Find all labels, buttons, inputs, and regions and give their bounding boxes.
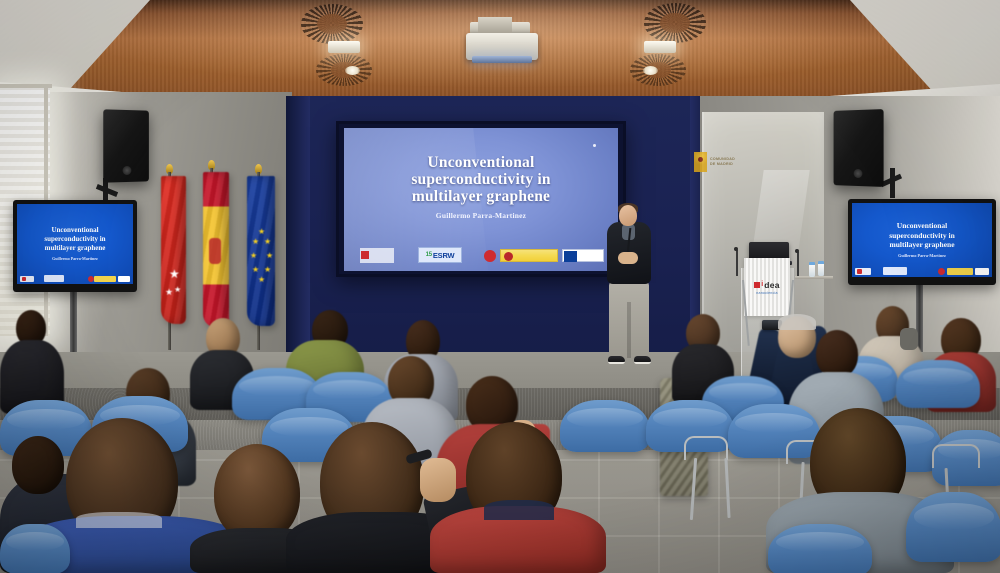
- sponsor-logo-left: [360, 248, 394, 263]
- microphone-stand: [797, 252, 799, 276]
- presenter-head: [619, 205, 637, 226]
- spain-government-logo: [947, 268, 973, 275]
- water-bottle: [818, 261, 824, 276]
- monitor-right[interactable]: Unconventional superconductivity in mult…: [848, 199, 996, 285]
- microphone-icon: [734, 247, 738, 251]
- conference-hall-photo: COMUNIDAD DE MADRID Unconventional super…: [0, 0, 1000, 573]
- monitor-left-logo-row: [20, 275, 130, 282]
- projector-lens-icon: [472, 56, 532, 63]
- monitor-left-title-line3: multilayer graphene: [17, 244, 133, 253]
- spain-government-logo: [500, 249, 558, 262]
- lectern-banner: i dea nanociencia: [744, 258, 790, 316]
- imdea-subtitle: nanociencia: [756, 291, 777, 295]
- star-icon: ★: [258, 228, 265, 236]
- wall-sign-comunidad-de-madrid: COMUNIDAD DE MADRID: [694, 148, 760, 176]
- imdea-brand-dea: dea: [764, 280, 780, 290]
- ceiling-vent-icon: [644, 3, 706, 43]
- flag-madrid: ★ ★ ★: [161, 176, 186, 324]
- ceiling-downlight-icon: [328, 41, 360, 53]
- chair[interactable]: [768, 524, 872, 573]
- european-union-logo: [118, 276, 130, 282]
- flag-european-union: ★ ★ ★ ★ ★ ★ ★ ★: [247, 176, 275, 326]
- chair[interactable]: [906, 492, 1000, 562]
- monitor-right-title-line2: superconductivity in: [852, 231, 992, 241]
- slide-logo-row: 15ESRW: [354, 246, 608, 264]
- monitor-left[interactable]: Unconventional superconductivity in mult…: [13, 200, 137, 292]
- water-bottle: [809, 262, 815, 277]
- star-icon: ★: [266, 252, 273, 260]
- monitor-right-screen: Unconventional superconductivity in mult…: [852, 203, 992, 277]
- red-emblem-logo: [938, 268, 945, 275]
- european-union-logo: [975, 268, 989, 275]
- ceiling-downlight-icon: [644, 41, 676, 53]
- microphone-stand: [736, 250, 738, 276]
- ceiling-vent-icon: [301, 4, 363, 44]
- esrw-logo-year: 15: [426, 252, 432, 258]
- ceiling-spot-icon: [643, 66, 658, 75]
- loudspeaker-left: [103, 109, 149, 182]
- european-union-logo: [562, 249, 604, 262]
- red-emblem-logo: [484, 250, 496, 262]
- imdea-red-square-icon: [754, 282, 760, 288]
- chair[interactable]: [560, 400, 650, 452]
- esrw-logo-label: ESRW: [433, 251, 455, 260]
- imdea-logo: i dea: [754, 280, 780, 290]
- esrw-logo: [883, 267, 907, 275]
- star-icon: ★: [174, 286, 181, 294]
- window-mullion: [0, 84, 52, 88]
- wall-sign-line2: DE MADRID: [710, 162, 735, 167]
- photographer-hair: [778, 314, 816, 330]
- ceiling-vent-icon: [316, 54, 372, 86]
- slide-title: Unconventional superconductivity in mult…: [344, 154, 618, 205]
- ceiling-vent-icon: [630, 54, 686, 86]
- madrid-coat-of-arms-icon: [694, 152, 707, 172]
- chair-armrest: [684, 436, 728, 460]
- audience-lanyard: [484, 500, 554, 520]
- monitor-stand-left: [70, 290, 77, 360]
- presenter-legs: [609, 280, 649, 358]
- audience-hand: [420, 458, 456, 502]
- audience-head: [12, 436, 64, 494]
- star-icon: ★: [169, 270, 180, 278]
- monitor-left-author: Guillermo Parra-Martinez: [17, 256, 133, 261]
- presenter-hands: [618, 252, 638, 264]
- chair-armrest: [932, 444, 980, 468]
- slide-title-line3: multilayer graphene: [344, 188, 618, 205]
- star-icon: ★: [264, 266, 271, 274]
- red-square-icon: [857, 269, 862, 274]
- chair[interactable]: [896, 360, 980, 408]
- audience-head: [816, 330, 858, 378]
- spain-coat-of-arms-icon: [209, 238, 221, 264]
- star-icon: ★: [252, 238, 259, 246]
- monitor-right-title: Unconventional superconductivity in mult…: [852, 221, 992, 250]
- esrw-logo: 15ESRW: [418, 247, 462, 263]
- star-icon: ★: [252, 266, 259, 274]
- star-icon: ★: [250, 252, 257, 260]
- speaker-bracket: [890, 168, 895, 198]
- slide-title-line1: Unconventional: [344, 154, 618, 171]
- star-icon: ★: [165, 288, 173, 296]
- star-icon: ★: [258, 276, 265, 284]
- imdea-brand-i: i: [761, 281, 763, 288]
- esrw-logo: [44, 275, 64, 282]
- audience-collar: [76, 512, 162, 528]
- red-square-icon: [22, 277, 26, 281]
- microphone-icon: [795, 249, 799, 253]
- monitor-left-screen: Unconventional superconductivity in mult…: [17, 204, 133, 284]
- audience-scarf: [900, 328, 918, 350]
- flag-spain: [203, 172, 229, 328]
- projection-screen: Unconventional superconductivity in mult…: [344, 128, 618, 271]
- monitor-right-logo-row: [855, 268, 989, 275]
- slide-title-line2: superconductivity in: [344, 171, 618, 188]
- monitor-right-author: Guillermo Parra-Martinez: [852, 253, 992, 258]
- star-icon: ★: [264, 238, 271, 246]
- monitor-left-title-line1: Unconventional: [17, 226, 133, 235]
- presenter-shoe: [608, 356, 625, 364]
- monitor-right-title-line3: multilayer graphene: [852, 240, 992, 250]
- presenter-shoe: [634, 356, 651, 364]
- cursor-dot-icon: [593, 144, 596, 147]
- monitor-right-title-line1: Unconventional: [852, 221, 992, 231]
- slide-author: Guillermo Parra-Martinez: [344, 211, 618, 220]
- chair[interactable]: [0, 524, 70, 573]
- spain-government-logo: [94, 276, 116, 282]
- ceiling-spot-icon: [345, 66, 360, 75]
- loudspeaker-right: [834, 109, 884, 187]
- monitor-left-title: Unconventional superconductivity in mult…: [17, 226, 133, 253]
- monitor-left-title-line2: superconductivity in: [17, 235, 133, 244]
